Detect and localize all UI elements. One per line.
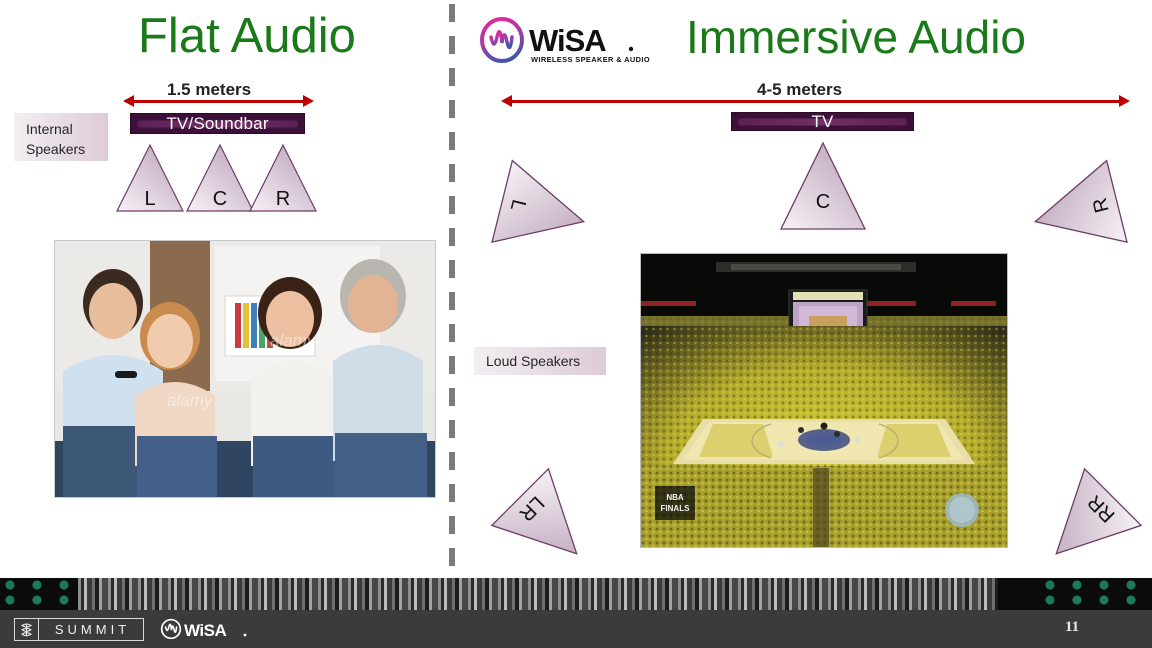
svg-text:NBA: NBA xyxy=(666,493,684,502)
page-title-flat-audio: Flat Audio xyxy=(138,8,356,64)
summit-logo-text: SUMMIT xyxy=(39,622,143,637)
speaker-left: L xyxy=(115,143,185,213)
tv-bar: TV xyxy=(731,112,914,131)
led-pattern-left xyxy=(0,578,78,610)
tv-bar-label: TV xyxy=(811,112,833,132)
svg-text:FINALS: FINALS xyxy=(661,504,691,513)
tv-soundbar-bar: TV/Soundbar xyxy=(130,113,305,134)
speaker-center-label: C xyxy=(213,188,227,210)
callout-internal-line1: Internal xyxy=(26,119,96,139)
photo-family-watching-tv: alamy alamy xyxy=(54,240,436,498)
measure-arrow-line-right xyxy=(511,100,1119,103)
arrow-head-right-end xyxy=(1119,95,1130,107)
page-title-immersive-audio: Immersive Audio xyxy=(686,10,1026,64)
speaker-center-right-label: C xyxy=(816,191,830,213)
speaker-right: R xyxy=(248,143,318,213)
speaker-surround-left: LR xyxy=(497,476,597,572)
speaker-front-right: R xyxy=(1030,163,1126,259)
callout-internal-speakers: Internal Speakers xyxy=(14,113,108,161)
page-number: 11 xyxy=(1065,619,1079,636)
speaker-center: C xyxy=(185,143,255,213)
speaker-front-left: L xyxy=(493,163,589,259)
photo-basketball-arena: NBA FINALS xyxy=(640,253,1008,548)
wisa-logo-tagline: WIRELESS SPEAKER & AUDIO xyxy=(531,55,650,64)
callout-loud-speakers: Loud Speakers xyxy=(474,347,606,375)
led-pattern-right xyxy=(1040,578,1152,610)
summit-glyph-icon xyxy=(15,619,39,640)
speaker-surround-right: RR xyxy=(1036,476,1136,572)
wisa-logo-text: WiSA xyxy=(529,23,606,58)
arrow-head-right-start xyxy=(501,95,512,107)
arrow-head-left-start xyxy=(123,95,134,107)
measurement-label-left: 1.5 meters xyxy=(167,80,251,100)
speaker-left-label: L xyxy=(144,188,155,210)
measurement-label-right: 4-5 meters xyxy=(757,80,842,100)
speaker-right-label: R xyxy=(276,188,290,210)
tv-soundbar-label: TV/Soundbar xyxy=(166,114,268,134)
wisa-footer-logo: WiSA xyxy=(160,616,252,642)
speaker-center-right: C xyxy=(778,140,868,232)
wisa-logo: WiSA WIRELESS SPEAKER & AUDIO xyxy=(479,17,653,67)
callout-internal-line2: Speakers xyxy=(26,139,96,159)
arrow-head-left-end xyxy=(303,95,314,107)
footer-decorative-strip xyxy=(0,578,1152,610)
slide-canvas: Flat Audio 1.5 meters TV/Soundbar Intern… xyxy=(0,0,1152,648)
summit-logo: SUMMIT xyxy=(14,618,144,641)
panel-divider xyxy=(449,4,455,570)
wisa-footer-text: WiSA xyxy=(184,621,226,640)
equalizer-bars xyxy=(78,578,998,610)
measure-arrow-line-left xyxy=(133,100,303,103)
callout-loud-speakers-label: Loud Speakers xyxy=(486,351,580,371)
